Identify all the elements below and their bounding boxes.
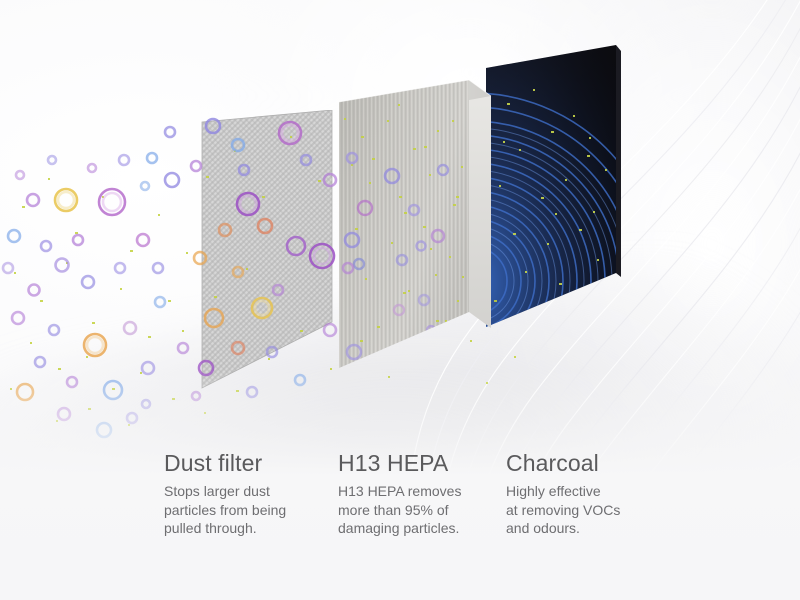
stage-title: H13 HEPA [338,450,498,476]
stage-title: Dust filter [164,450,334,476]
filter-panel-dust-mesh [190,110,380,410]
stage-description: Stops larger dust particles from being p… [164,482,334,538]
stage-label-charcoal: Charcoal Highly effective at removing VO… [506,450,666,538]
stage-label-dust-filter: Dust filter Stops larger dust particles … [164,450,334,538]
filtration-diagram-scene: Dust filter Stops larger dust particles … [0,0,800,600]
stage-description: Highly effective at removing VOCs and od… [506,482,666,538]
stage-label-h13-hepa: H13 HEPA H13 HEPA removes more than 95% … [338,450,498,538]
stage-description: H13 HEPA removes more than 95% of damagi… [338,482,498,538]
stage-title: Charcoal [506,450,666,476]
stage-labels: Dust filter Stops larger dust particles … [0,450,800,570]
